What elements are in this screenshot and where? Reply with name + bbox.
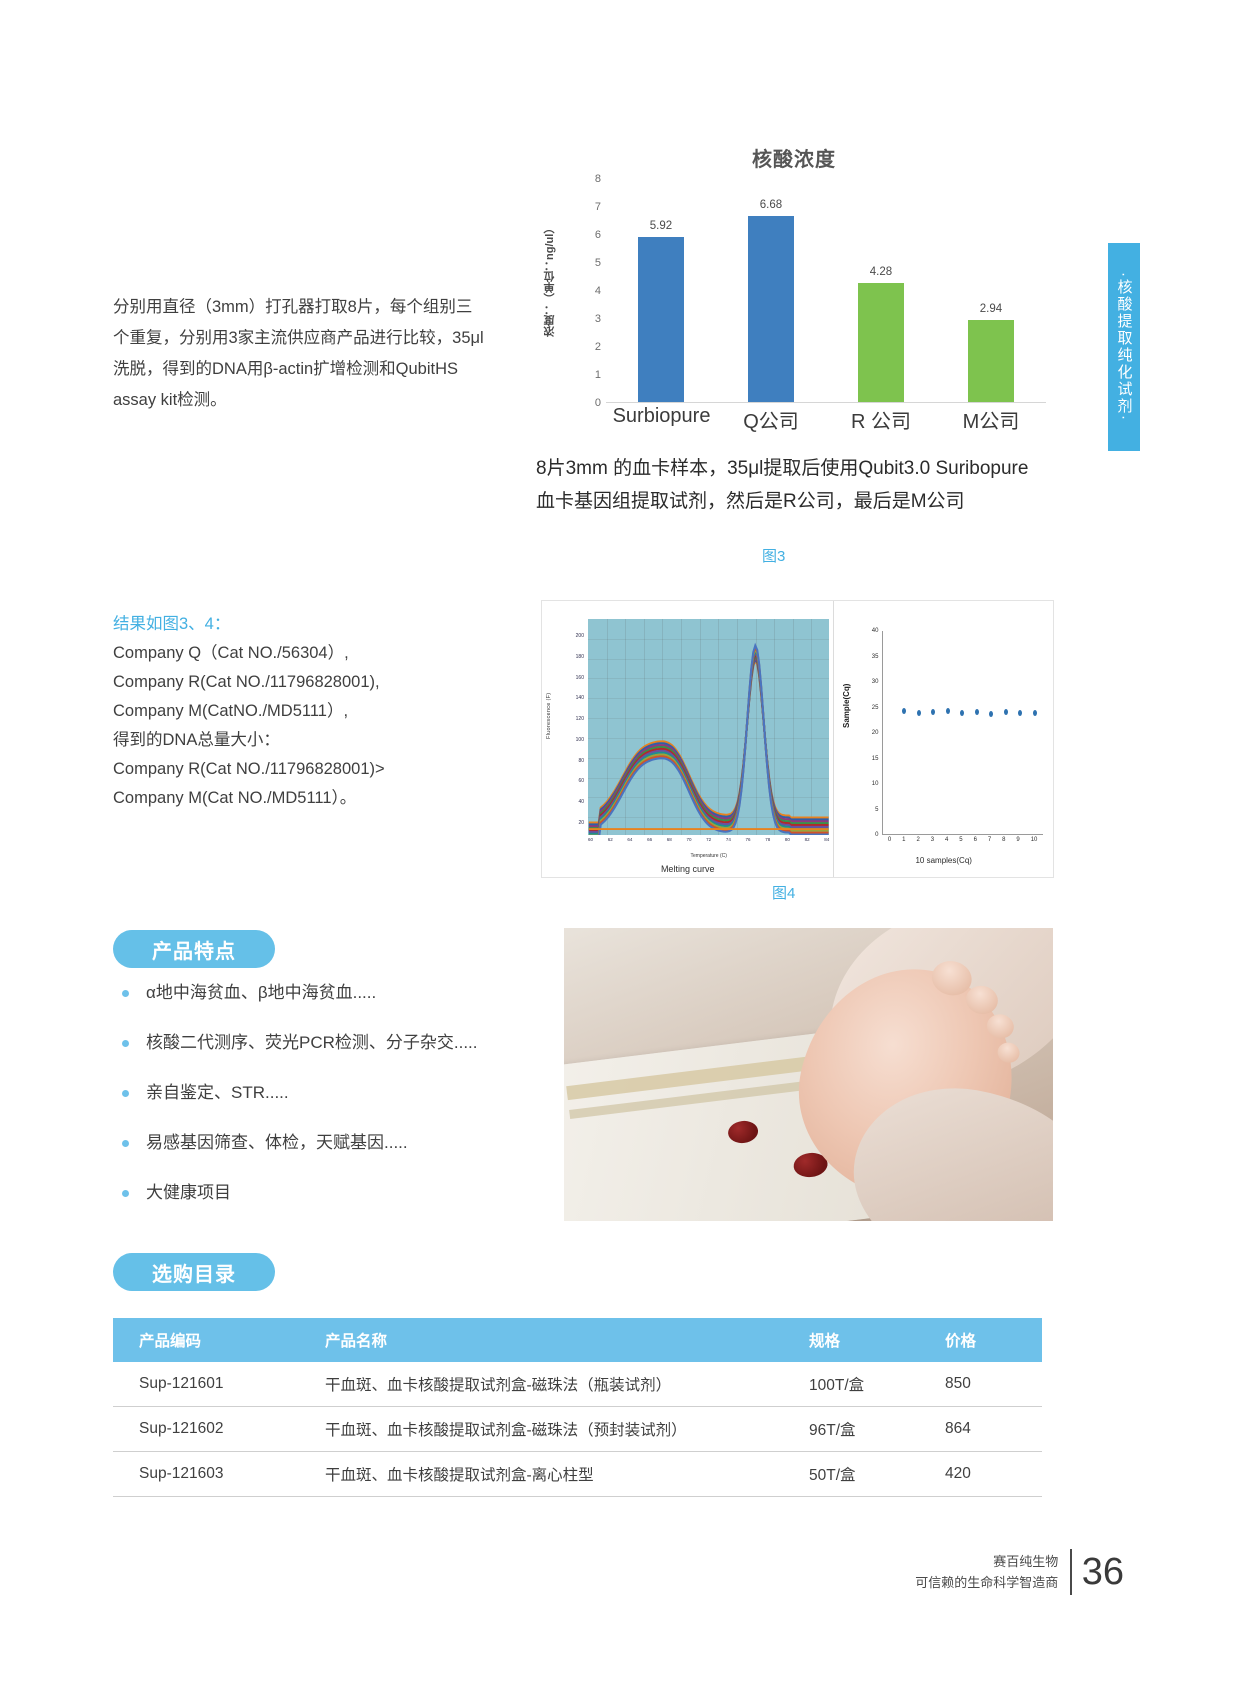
chart-x-axis-labels: SurbiopureQ公司R 公司M公司	[606, 405, 1046, 434]
page-number: 36	[1082, 1553, 1124, 1591]
melt-x-tick: 84	[824, 837, 829, 847]
photo-blood-spot-1	[727, 1119, 759, 1144]
bullet-icon	[122, 1040, 129, 1047]
melt-y-tick: 60	[578, 778, 584, 784]
results-line-1: Company R(Cat NO./11796828001),	[113, 668, 503, 697]
melt-curve-series	[589, 656, 829, 828]
side-tab-label: ·核酸提取纯化试剂·	[1114, 272, 1135, 422]
scatter-point	[989, 711, 993, 717]
figure-3: 核酸浓度 浓度：（单位：ng/ul） 876543210 5.926.684.2…	[536, 143, 1052, 435]
scatter-x-tick: 1	[902, 837, 905, 847]
scatter-caption: 10 samples(Cq)	[834, 856, 1053, 865]
results-line-3: 得到的DNA总量大小：	[113, 726, 503, 755]
scatter-x-tick: 3	[931, 837, 934, 847]
melt-x-tick: 66	[647, 837, 652, 847]
section-side-tab: ·核酸提取纯化试剂·	[1108, 243, 1140, 451]
y-tick: 1	[595, 369, 601, 381]
scatter-y-tick: 40	[872, 628, 879, 634]
melt-x-tick: 76	[746, 837, 751, 847]
catalog-title-pill: 选购目录	[113, 1253, 275, 1291]
scatter-point	[946, 708, 950, 714]
column-header-price: 价格	[933, 1318, 1042, 1362]
cell-spec: 50T/盒	[803, 1452, 933, 1497]
feature-item-label: 大健康项目	[146, 1180, 231, 1205]
figure-3-caption: 8片3mm 的血卡样本，35μl提取后使用Qubit3.0 Suribopure…	[536, 452, 1052, 518]
feature-item: 核酸二代测序、荧光PCR检测、分子杂交.....	[122, 1030, 522, 1055]
nucleic-acid-concentration-chart: 核酸浓度 浓度：（单位：ng/ul） 876543210 5.926.684.2…	[536, 143, 1052, 435]
bar: 4.28	[858, 283, 904, 402]
results-line-2: Company M(CatNO./MD5111）,	[113, 697, 503, 726]
cell-price: 420	[933, 1452, 1042, 1497]
page-footer: 赛百纯生物 可信赖的生命科学智造商 36	[915, 1549, 1124, 1595]
chart-y-axis-label: 浓度：（单位：ng/ul）	[542, 195, 558, 365]
melt-y-tick: 100	[576, 737, 584, 743]
document-page: ·核酸提取纯化试剂· 分别用直径（3mm）打孔器打取8片，每个组别三个重复，分别…	[0, 0, 1240, 1683]
footer-brand: 赛百纯生物 可信赖的生命科学智造商	[915, 1551, 1058, 1593]
melt-curves	[588, 619, 829, 835]
bar-value-label: 6.68	[760, 199, 782, 211]
bullet-icon	[122, 990, 129, 997]
feature-item: α地中海贫血、β地中海贫血.....	[122, 980, 522, 1005]
bar: 2.94	[968, 320, 1014, 402]
melt-x-tick: 82	[805, 837, 810, 847]
cq-scatter-chart: Sample(Cq) 4035302520151050 012345678910…	[833, 601, 1053, 877]
y-tick: 2	[595, 341, 601, 353]
feature-item: 易感基因筛查、体检，天赋基因.....	[122, 1130, 522, 1155]
bar-column: 6.68	[723, 179, 820, 402]
column-header-name: 产品名称	[313, 1318, 803, 1362]
scatter-point	[917, 710, 921, 716]
features-title-pill: 产品特点	[113, 930, 275, 968]
footer-slogan: 可信赖的生命科学智造商	[915, 1572, 1058, 1593]
blood-card-photo	[564, 928, 1053, 1221]
scatter-point	[975, 709, 979, 715]
scatter-x-tick: 8	[1002, 837, 1005, 847]
melt-curve-series	[589, 651, 829, 834]
melt-curve-series	[589, 657, 829, 826]
figure-4-number: 图4	[772, 882, 795, 903]
x-axis-category: Q公司	[723, 405, 820, 434]
y-tick: 4	[595, 285, 601, 297]
catalog-table-body: Sup-121601干血斑、血卡核酸提取试剂盒-磁珠法（瓶装试剂）100T/盒8…	[113, 1362, 1042, 1497]
cell-name: 干血斑、血卡核酸提取试剂盒-磁珠法（瓶装试剂）	[313, 1362, 803, 1407]
y-tick: 6	[595, 229, 601, 241]
melt-x-tick: 78	[765, 837, 770, 847]
x-axis-category: Surbiopure	[613, 405, 710, 434]
melt-curve-series	[589, 659, 829, 824]
cell-name: 干血斑、血卡核酸提取试剂盒-磁珠法（预封装试剂）	[313, 1407, 803, 1452]
figure-4: Fluorescence (F) 20018016014012010080604…	[541, 600, 1054, 878]
melt-curve-series	[589, 646, 829, 835]
cell-code: Sup-121603	[113, 1452, 313, 1497]
scatter-y-tick: 0	[875, 832, 878, 838]
column-header-code: 产品编码	[113, 1318, 313, 1362]
scatter-y-tick: 30	[872, 679, 879, 685]
melt-y-tick: 160	[576, 675, 584, 681]
column-header-spec: 规格	[803, 1318, 933, 1362]
y-tick: 7	[595, 201, 601, 213]
scatter-x-axis-ticks: 012345678910	[882, 837, 1043, 847]
results-paragraph: 结果如图3、4： Company Q（Cat NO./56304）, Compa…	[113, 610, 503, 813]
bar-value-label: 5.92	[650, 220, 672, 232]
scatter-x-tick: 0	[888, 837, 891, 847]
bullet-icon	[122, 1140, 129, 1147]
melt-x-tick: 72	[706, 837, 711, 847]
chart-bars: 5.926.684.282.94	[606, 179, 1046, 403]
scatter-plot-area	[882, 631, 1043, 835]
melt-y-tick: 140	[576, 695, 584, 701]
feature-item-label: 易感基因筛查、体检，天赋基因.....	[146, 1130, 408, 1155]
cell-code: Sup-121602	[113, 1407, 313, 1452]
melt-y-axis-ticks: 20018016014012010080604020	[564, 619, 586, 835]
scatter-y-axis-ticks: 4035302520151050	[860, 631, 880, 835]
melt-y-tick: 120	[576, 716, 584, 722]
bar-column: 5.92	[613, 179, 710, 402]
catalog-table: 产品编码 产品名称 规格 价格 Sup-121601干血斑、血卡核酸提取试剂盒-…	[113, 1318, 1042, 1497]
catalog-table-head: 产品编码 产品名称 规格 价格	[113, 1318, 1042, 1362]
melt-y-tick: 20	[578, 820, 584, 826]
scatter-x-tick: 2	[916, 837, 919, 847]
y-tick: 0	[595, 397, 601, 409]
y-tick: 5	[595, 257, 601, 269]
chart-plot-area: 876543210 5.926.684.282.94	[582, 179, 1046, 403]
cell-spec: 100T/盒	[803, 1362, 933, 1407]
catalog-header-row: 产品编码 产品名称 规格 价格	[113, 1318, 1042, 1362]
scatter-point	[1033, 710, 1037, 716]
bar-column: 2.94	[943, 179, 1040, 402]
table-row: Sup-121601干血斑、血卡核酸提取试剂盒-磁珠法（瓶装试剂）100T/盒8…	[113, 1362, 1042, 1407]
feature-item-label: 亲自鉴定、STR.....	[146, 1080, 289, 1105]
melt-x-tick: 68	[667, 837, 672, 847]
features-title: 产品特点	[152, 935, 236, 964]
melt-x-tick: 70	[686, 837, 691, 847]
melt-y-tick: 200	[576, 633, 584, 639]
cell-price: 850	[933, 1362, 1042, 1407]
feature-item-label: 核酸二代测序、荧光PCR检测、分子杂交.....	[146, 1030, 478, 1055]
feature-item: 亲自鉴定、STR.....	[122, 1080, 522, 1105]
melt-x-axis-label: Temperature (C)	[588, 853, 829, 859]
melting-curve-chart: Fluorescence (F) 20018016014012010080604…	[542, 601, 833, 877]
figure-3-number: 图3	[762, 545, 785, 566]
melt-curve-series	[589, 654, 829, 830]
footer-divider	[1070, 1549, 1072, 1595]
melt-x-tick: 64	[627, 837, 632, 847]
scatter-y-tick: 25	[872, 705, 879, 711]
cell-spec: 96T/盒	[803, 1407, 933, 1452]
melt-curve-series	[589, 652, 829, 832]
bar-column: 4.28	[833, 179, 930, 402]
scatter-y-tick: 5	[875, 807, 878, 813]
cell-price: 864	[933, 1407, 1042, 1452]
bar: 5.92	[638, 237, 684, 402]
table-row: Sup-121602干血斑、血卡核酸提取试剂盒-磁珠法（预封装试剂）96T/盒8…	[113, 1407, 1042, 1452]
feature-item: 大健康项目	[122, 1180, 522, 1205]
results-line-0: Company Q（Cat NO./56304）,	[113, 639, 503, 668]
x-axis-category: M公司	[943, 405, 1040, 434]
cell-code: Sup-121601	[113, 1362, 313, 1407]
melt-y-tick: 180	[576, 654, 584, 660]
footer-company: 赛百纯生物	[915, 1551, 1058, 1572]
y-tick: 3	[595, 313, 601, 325]
scatter-x-tick: 4	[945, 837, 948, 847]
scatter-y-tick: 10	[872, 781, 879, 787]
bar-value-label: 2.94	[980, 303, 1002, 315]
scatter-point	[960, 710, 964, 716]
scatter-point	[1018, 710, 1022, 716]
catalog-title: 选购目录	[152, 1258, 236, 1287]
melt-curve-series	[589, 661, 829, 823]
scatter-point	[902, 708, 906, 714]
melt-y-tick: 80	[578, 758, 584, 764]
scatter-x-tick: 9	[1016, 837, 1019, 847]
bullet-icon	[122, 1090, 129, 1097]
chart-y-axis-ticks: 876543210	[582, 179, 604, 403]
bullet-icon	[122, 1190, 129, 1197]
scatter-x-tick: 7	[988, 837, 991, 847]
scatter-x-tick: 6	[974, 837, 977, 847]
scatter-x-tick: 10	[1031, 837, 1038, 847]
bar-value-label: 4.28	[870, 266, 892, 278]
scatter-y-axis-label: Sample(Cq)	[842, 641, 851, 771]
features-list: α地中海贫血、β地中海贫血.....核酸二代测序、荧光PCR检测、分子杂交...…	[122, 980, 522, 1230]
scatter-x-tick: 5	[959, 837, 962, 847]
melt-x-tick: 62	[608, 837, 613, 847]
y-tick: 8	[595, 173, 601, 185]
table-row: Sup-121603干血斑、血卡核酸提取试剂盒-离心柱型50T/盒420	[113, 1452, 1042, 1497]
melt-plot-area	[588, 619, 829, 835]
scatter-point	[1004, 709, 1008, 715]
melt-x-tick: 74	[726, 837, 731, 847]
scatter-y-tick: 35	[872, 654, 879, 660]
cell-name: 干血斑、血卡核酸提取试剂盒-离心柱型	[313, 1452, 803, 1497]
results-line-4: Company R(Cat NO./11796828001)>	[113, 755, 503, 784]
chart-title: 核酸浓度	[536, 143, 1052, 172]
melt-y-axis-label: Fluorescence (F)	[546, 641, 552, 791]
scatter-y-tick: 15	[872, 756, 879, 762]
melt-caption: Melting curve	[542, 864, 833, 874]
results-line-5: Company M(Cat NO./MD5111）。	[113, 784, 503, 813]
melt-y-tick: 40	[578, 799, 584, 805]
melt-x-tick: 60	[588, 837, 593, 847]
bar: 6.68	[748, 216, 794, 402]
intro-paragraph: 分别用直径（3mm）打孔器打取8片，每个组别三个重复，分别用3家主流供应商产品进…	[113, 292, 485, 416]
scatter-y-tick: 20	[872, 730, 879, 736]
x-axis-category: R 公司	[833, 405, 930, 434]
feature-item-label: α地中海贫血、β地中海贫血.....	[146, 980, 376, 1005]
scatter-point	[931, 709, 935, 715]
melt-x-axis-ticks: 60626466687072747678808284	[588, 837, 829, 847]
results-heading: 结果如图3、4：	[113, 610, 503, 639]
melt-x-tick: 80	[785, 837, 790, 847]
